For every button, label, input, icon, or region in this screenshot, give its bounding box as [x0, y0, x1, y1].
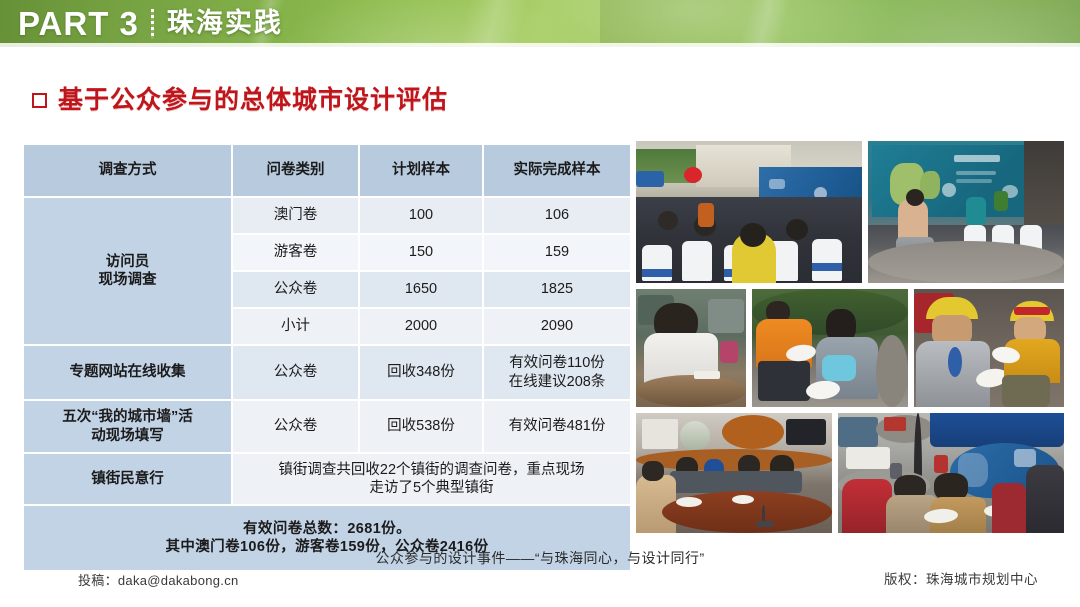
photo-blue-tent — [636, 171, 664, 187]
photo-orange-coat — [698, 203, 714, 227]
column-header-planned: 计划样本 — [360, 145, 482, 196]
photo-person-head — [658, 211, 678, 230]
photo-row-2 — [636, 289, 1064, 407]
cell-planned: 回收538份 — [360, 401, 482, 452]
survey-table-container: 调查方式 问卷类别 计划样本 实际完成样本 访问员 现场调查 澳门卷 100 1… — [22, 143, 632, 572]
cell-type: 游客卷 — [233, 235, 358, 270]
photo-person-head — [906, 189, 924, 206]
footer-submission-email: 投稿：daka@dakabong.cn — [78, 570, 239, 589]
photo-pavement — [876, 335, 908, 407]
photo-shop-sign — [884, 417, 906, 431]
banner-shade — [600, 0, 780, 47]
photo-red-chair — [992, 483, 1026, 533]
row-label-city-wall: 五次“我的城市墙”活 动现场填写 — [24, 401, 231, 452]
photo-floor — [868, 241, 1064, 283]
photo-white-van — [846, 447, 890, 469]
table-row: 五次“我的城市墙”活 动现场填写 公众卷 回收538份 有效问卷481份 — [24, 401, 630, 452]
photo-document — [676, 497, 702, 507]
photo-wall-panel — [636, 449, 832, 471]
table-header-row: 调查方式 问卷类别 计划样本 实际完成样本 — [24, 145, 630, 196]
photo-display-screen — [786, 419, 826, 445]
photo-form-paper — [694, 371, 720, 379]
part-title-label: 珠海实践 — [167, 10, 283, 37]
photo-background-shelf — [708, 299, 744, 333]
cell-merged-description: 镇街调查共回收22个镇街的调查问卷，重点现场 走访了5个典型镇街 — [233, 454, 630, 504]
cell-planned: 1650 — [360, 272, 482, 307]
column-header-method: 调查方式 — [24, 145, 231, 196]
photo-banner-text — [769, 179, 785, 189]
row-label-online-site: 专题网站在线收集 — [24, 346, 231, 399]
header-banner: PART 3 珠海实践 — [0, 0, 1080, 47]
photo-person-pink — [720, 341, 738, 363]
merged-line1: 镇街调查共回收22个镇街的调查问卷，重点现场 — [237, 461, 626, 479]
photo-red-coat-person — [842, 479, 892, 533]
photo-chair — [812, 239, 842, 281]
row-label-interviewer: 访问员 现场调查 — [24, 198, 231, 344]
cell-planned: 150 — [360, 235, 482, 270]
photo-panel-icon — [942, 183, 956, 197]
photo-chair-backs — [670, 471, 802, 493]
photo-hardhat-workers-survey — [914, 289, 1064, 407]
cell-actual: 2090 — [484, 309, 630, 344]
square-bullet-icon — [32, 93, 47, 108]
photo-meeting-room-discussion — [636, 413, 832, 533]
photo-blue-tent-canopy — [930, 413, 1064, 447]
photo-chair — [682, 241, 712, 281]
row-label-line2: 现场调查 — [28, 271, 227, 289]
photo-row-1 — [636, 141, 1064, 283]
photo-wood-wall — [722, 415, 784, 449]
photo-building — [838, 417, 878, 447]
photo-document — [732, 495, 754, 504]
table-row: 专题网站在线收集 公众卷 回收348份 有效问卷110份 在线建议208条 — [24, 346, 630, 399]
banner-title-group: PART 3 珠海实践 — [18, 0, 283, 47]
footer-caption: 公众参与的设计事件——“与珠海同心，与设计同行” — [0, 548, 1080, 568]
page-title: 基于公众参与的总体城市设计评估 — [32, 80, 448, 116]
merged-line2: 走访了5个典型镇街 — [237, 479, 626, 497]
cell-planned: 100 — [360, 198, 482, 233]
page-title-text: 基于公众参与的总体城市设计评估 — [58, 80, 448, 116]
photo-person-teal — [966, 197, 986, 225]
table-row: 访问员 现场调查 澳门卷 100 106 — [24, 198, 630, 233]
photo-blue-bag — [822, 355, 856, 381]
photo-worker-strap — [948, 347, 962, 377]
photo-window — [680, 421, 710, 451]
photo-microphone-base — [756, 521, 774, 527]
photo-interior — [1024, 141, 1064, 233]
cell-actual-line1: 有效问卷110份 — [488, 354, 626, 372]
cell-actual: 1825 — [484, 272, 630, 307]
photo-panel-text — [956, 171, 996, 175]
cell-type: 小计 — [233, 309, 358, 344]
cell-planned: 2000 — [360, 309, 482, 344]
cell-type: 公众卷 — [233, 401, 358, 452]
photo-camo-bag — [1002, 375, 1050, 407]
photo-person-green — [994, 191, 1008, 211]
photo-dark-trousers — [758, 361, 810, 401]
photo-pedestrian — [934, 455, 948, 473]
row-label-town-opinion: 镇街民意行 — [24, 454, 231, 504]
photo-person-head — [786, 219, 808, 240]
photo-gallery — [636, 141, 1064, 533]
photo-two-residents-writing — [752, 289, 908, 407]
photo-person-head — [740, 223, 766, 247]
row-label-line1: 五次“我的城市墙”活 — [28, 408, 227, 426]
photo-whiteboard — [642, 419, 678, 449]
photo-outdoor-forum-crowd — [636, 141, 862, 283]
banner-underline — [0, 43, 1080, 47]
footer-copyright: 版权：珠海城市规划中心 — [884, 568, 1038, 588]
table-row: 镇街民意行 镇街调查共回收22个镇街的调查问卷，重点现场 走访了5个典型镇街 — [24, 454, 630, 504]
cell-type: 公众卷 — [233, 346, 358, 399]
cell-type: 公众卷 — [233, 272, 358, 307]
cell-actual-line2: 在线建议208条 — [488, 373, 626, 391]
row-label-line1: 访问员 — [28, 253, 227, 271]
photo-worker-filling-form — [636, 289, 746, 407]
column-header-type: 问卷类别 — [233, 145, 358, 196]
column-header-actual: 实际完成样本 — [484, 145, 630, 196]
photo-hardhat-band — [1014, 307, 1050, 315]
photo-chair-sash — [812, 263, 842, 271]
photo-red-balloon — [684, 167, 702, 183]
row-label-line2: 动现场填写 — [28, 427, 227, 445]
survey-table: 调查方式 问卷类别 计划样本 实际完成样本 访问员 现场调查 澳门卷 100 1… — [22, 143, 632, 572]
photo-person-head — [642, 461, 664, 481]
part-number-label: PART 3 — [18, 7, 139, 40]
title-divider — [151, 9, 154, 39]
photo-board-graphic — [1014, 449, 1036, 467]
photo-standing-person — [1026, 465, 1064, 533]
cell-actual: 有效问卷481份 — [484, 401, 630, 452]
photo-row-3 — [636, 413, 1064, 533]
photo-panel-text — [956, 179, 992, 183]
cell-actual: 有效问卷110份 在线建议208条 — [484, 346, 630, 399]
summary-line1: 有效问卷总数：2681份。 — [28, 520, 626, 538]
photo-panel-title — [954, 155, 1000, 162]
photo-street-tent-survey — [838, 413, 1064, 533]
leaf-texture-vein — [444, 0, 536, 47]
cell-type: 澳门卷 — [233, 198, 358, 233]
photo-chair-sash — [642, 269, 672, 277]
cell-actual: 106 — [484, 198, 630, 233]
cell-planned: 回收348份 — [360, 346, 482, 399]
photo-counter — [636, 375, 746, 407]
photo-exhibition-map-board — [868, 141, 1064, 283]
cell-actual: 159 — [484, 235, 630, 270]
